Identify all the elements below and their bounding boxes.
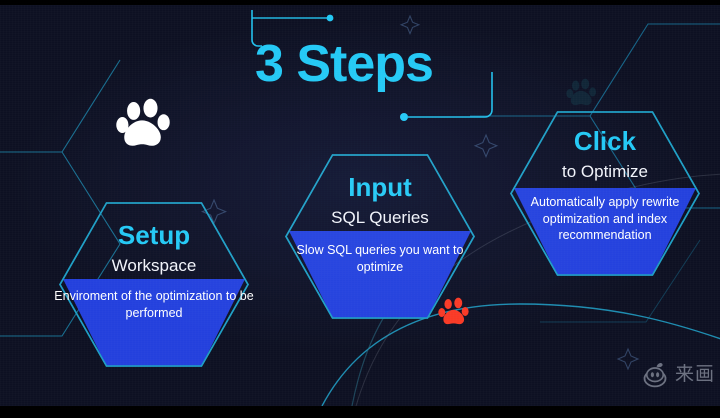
paw-print-icon: [437, 295, 471, 329]
video-frame: 3 Steps Setup Workspace Enviroment of th…: [0, 4, 720, 406]
paw-print-icon: [113, 95, 173, 155]
watermark-text: 来画: [675, 365, 715, 384]
watermark: 来画: [640, 359, 715, 389]
step-title: Click: [510, 128, 700, 154]
laihua-mascot-icon: [640, 359, 670, 389]
letterbox-bar-bottom: [0, 406, 720, 418]
step-card-setup[interactable]: Setup Workspace Enviroment of the optimi…: [59, 202, 249, 367]
letterbox-bar-top: [0, 0, 720, 5]
slide-canvas: 3 Steps Setup Workspace Enviroment of th…: [0, 0, 720, 418]
step-body: Automatically apply rewrite optimization…: [504, 194, 706, 244]
step-body: Enviroment of the optimization to be per…: [53, 288, 255, 321]
step-subtitle: Workspace: [59, 257, 249, 276]
page-title: 3 Steps: [255, 38, 433, 90]
step-card-click[interactable]: Click to Optimize Automatically apply re…: [510, 111, 700, 276]
step-subtitle: SQL Queries: [285, 209, 475, 228]
step-title: Setup: [59, 222, 249, 248]
step-subtitle: to Optimize: [510, 163, 700, 182]
paw-print-icon: [565, 76, 599, 110]
step-body: Slow SQL queries you want to optimize: [279, 242, 481, 275]
step-title: Input: [285, 174, 475, 200]
